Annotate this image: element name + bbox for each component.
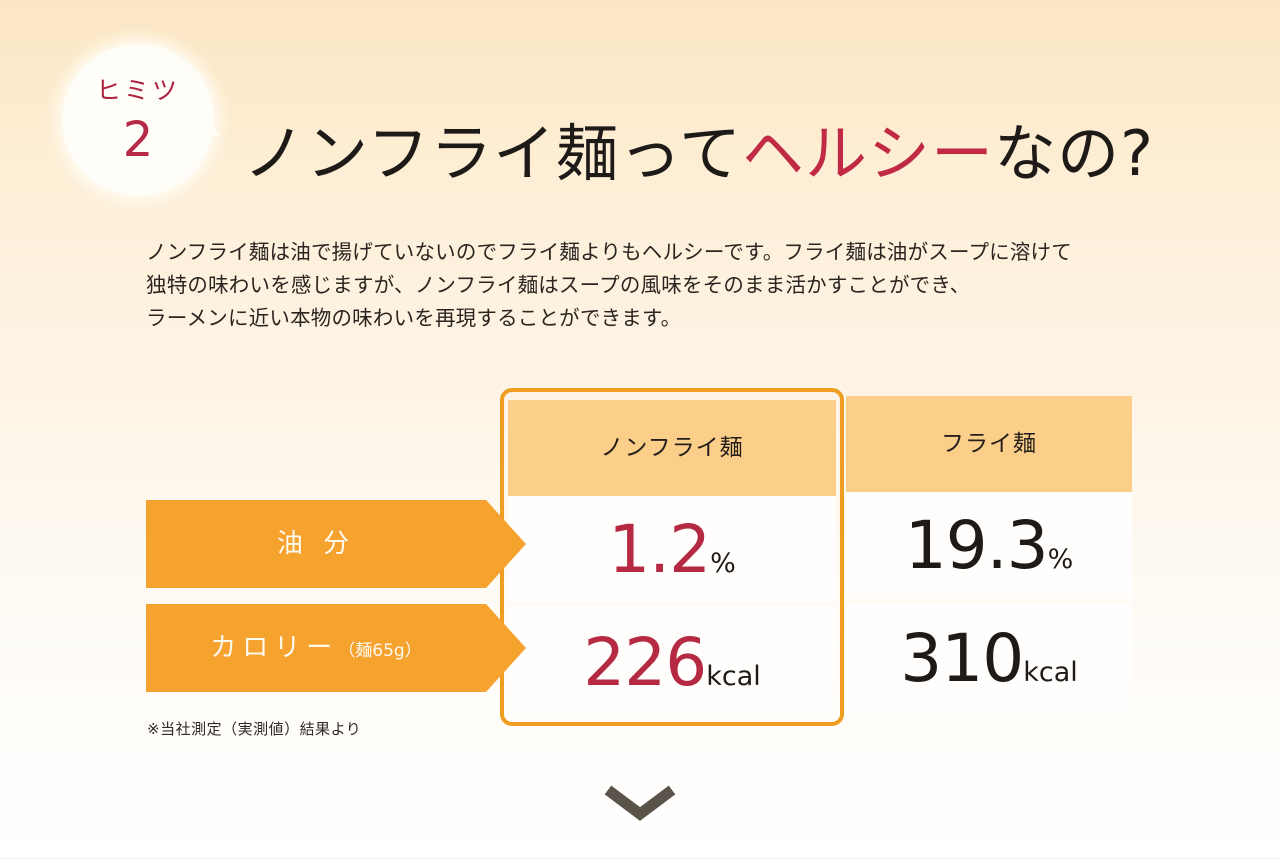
value-unit: kcal (1023, 657, 1078, 688)
column-cells-nonfry: 1.2% 226kcal (508, 496, 836, 719)
comparison-table: フライ麺 19.3% 310kcal ノンフライ麺 1.2% (146, 388, 1136, 733)
column-nonfry-noodle: ノンフライ麺 1.2% 226kcal (500, 388, 844, 726)
badge-label: ヒミツ (62, 78, 214, 103)
row-label-oil-text: 油 分 (146, 500, 486, 588)
headline-accent: ヘルシー (742, 117, 994, 190)
page-title: ノンフライ麺ってヘルシーなの? (243, 123, 1154, 185)
column-cells-fry: 19.3% 310kcal (846, 492, 1132, 715)
value-nonfry-oil: 1.2% (508, 517, 836, 583)
secret-badge: ヒミツ 2 (62, 44, 214, 196)
cell-nonfry-oil: 1.2% (508, 496, 836, 603)
arrow-tip-icon (486, 604, 526, 692)
cell-nonfry-calorie: 226kcal (508, 607, 836, 719)
page-root: ヒミツ 2 ノンフライ麺ってヘルシーなの? ノンフライ麺は油で揚げていないのでフ… (0, 0, 1280, 866)
lead-line-2: 独特の味わいを感じますが、ノンフライ麺はスープの風味をそのまま活かすことができ、 (146, 269, 1156, 302)
row-label-main: 油 分 (277, 529, 355, 559)
footnote: ※当社測定（実測値）結果より (147, 718, 361, 739)
value-fry-calorie: 310kcal (846, 626, 1132, 692)
chevron-down-icon[interactable] (598, 782, 682, 822)
value-fry-oil: 19.3% (846, 513, 1132, 579)
lead-line-1: ノンフライ麺は油で揚げていないのでフライ麺よりもヘルシーです。フライ麺は油がスー… (146, 236, 1156, 269)
value-number: 310 (900, 620, 1023, 697)
lead-paragraph: ノンフライ麺は油で揚げていないのでフライ麺よりもヘルシーです。フライ麺は油がスー… (146, 236, 1156, 335)
value-nonfry-calorie: 226kcal (508, 630, 836, 696)
value-number: 19.3 (905, 507, 1048, 584)
cell-fry-oil: 19.3% (846, 492, 1132, 599)
column-header-fry: フライ麺 (846, 396, 1132, 492)
row-label-calorie-text: カロリー（麺65g） (146, 604, 486, 692)
value-number: 226 (583, 624, 706, 701)
column-header-nonfry: ノンフライ麺 (508, 400, 836, 496)
row-label-main: カロリー (210, 633, 338, 663)
row-label-calorie: カロリー（麺65g） (146, 604, 526, 692)
lead-line-3: ラーメンに近い本物の味わいを再現することができます。 (146, 302, 1156, 335)
headline-prefix: ノンフライ麺って (243, 117, 742, 190)
value-unit: kcal (706, 661, 761, 692)
badge-number: 2 (62, 116, 214, 164)
column-fry-noodle: フライ麺 19.3% 310kcal (846, 396, 1132, 716)
value-unit: % (1048, 544, 1074, 575)
arrow-tip-icon (486, 500, 526, 588)
value-unit: % (710, 548, 736, 579)
row-label-sub: （麺65g） (338, 641, 421, 661)
value-number: 1.2 (608, 511, 710, 588)
row-label-oil: 油 分 (146, 500, 526, 588)
headline-suffix: なの? (994, 117, 1154, 190)
bottom-divider (0, 858, 1280, 859)
cell-fry-calorie: 310kcal (846, 603, 1132, 715)
